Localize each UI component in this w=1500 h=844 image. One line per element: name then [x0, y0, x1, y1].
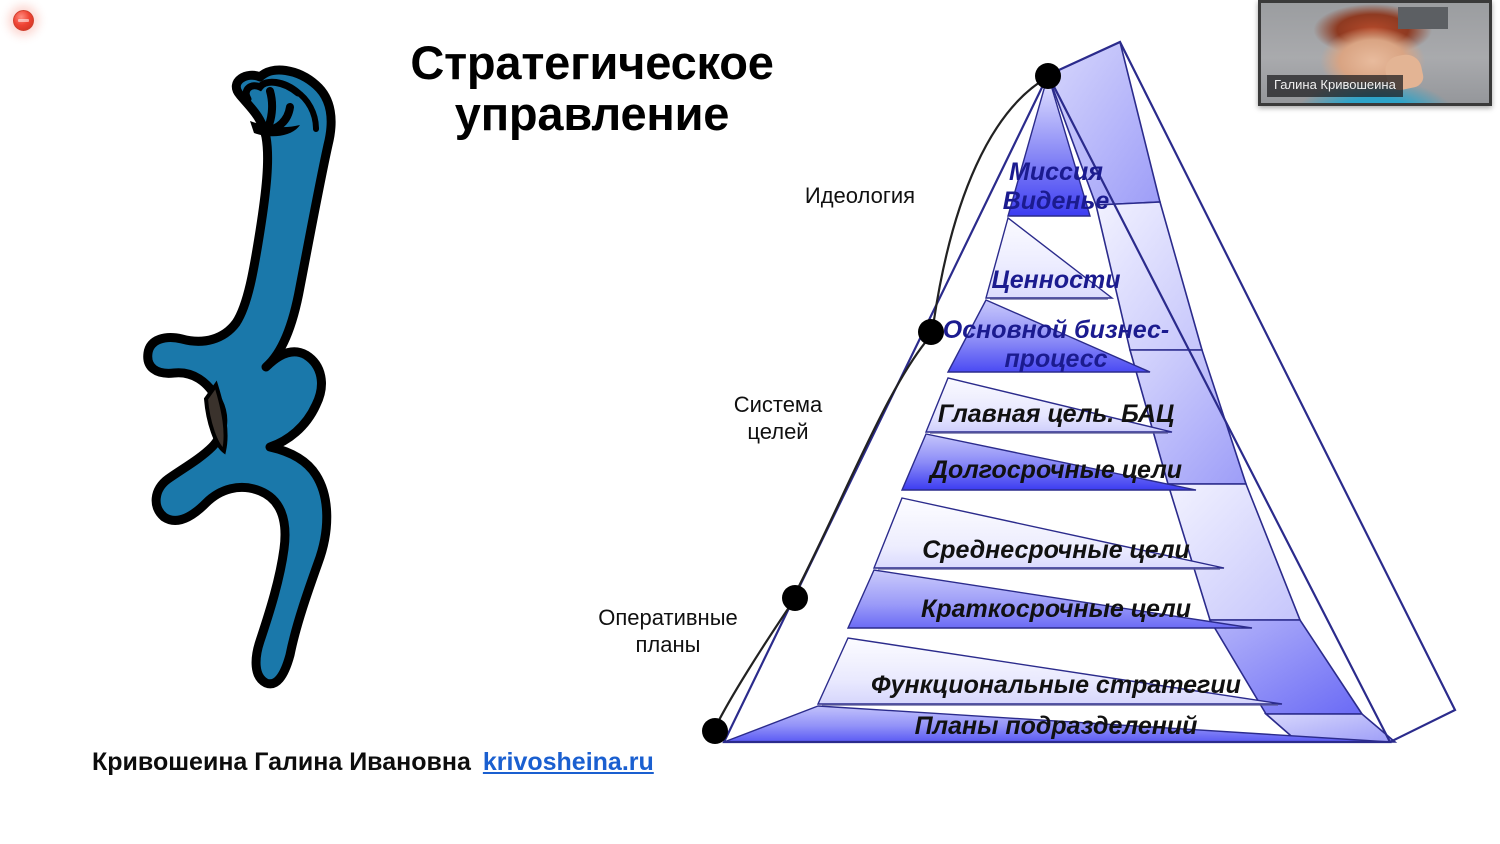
- pyramid-side-faces: [1048, 42, 1395, 742]
- pyramid-level-1-label-line1: Миссия: [1009, 158, 1103, 186]
- pyramid-level-3-label-line2: процесс: [1004, 345, 1107, 373]
- pyramid-level-8-label: Функциональные стратегии: [871, 671, 1241, 699]
- pyramid-level-2-label: Ценности: [991, 266, 1120, 294]
- pyramid-level-4-label: Главная цель. БАЦ: [938, 400, 1174, 428]
- pyramid-level-7-label: Краткосрочные цели: [921, 595, 1191, 623]
- figure-body: [148, 70, 331, 684]
- record-indicator-icon: [13, 10, 34, 31]
- connector-curve-plans: [716, 600, 794, 726]
- footer-website-link[interactable]: krivosheina.ru: [483, 748, 654, 776]
- footer-credit: Кривошеина Галина Ивановнаkrivosheina.ru: [92, 748, 654, 777]
- bracket-dot-apex: [1035, 63, 1061, 89]
- webcam-participant-name: Галина Кривошеина: [1267, 75, 1403, 97]
- strategy-pyramid: Миссия Виденье Ценности Основной бизнес-…: [690, 20, 1490, 780]
- pyramid-level-1-label-line2: Виденье: [1003, 187, 1110, 215]
- slide-canvas: Стратегическое управление Идеология Сист…: [0, 0, 1500, 844]
- pyramid-level-5-label: Долгосрочные цели: [928, 456, 1182, 484]
- pyramid-level-6-label: Среднесрочные цели: [922, 536, 1190, 564]
- bracket-dot-goals-bottom: [782, 585, 808, 611]
- footer-author: Кривошеина Галина Ивановна: [92, 748, 471, 776]
- webcam-tile[interactable]: Галина Кривошеина: [1258, 0, 1492, 106]
- pyramid-level-3-label-line1: Основной бизнес-: [943, 316, 1169, 344]
- pyramid-level-9-label: Планы подразделений: [915, 712, 1198, 740]
- climbing-figure-illustration: [120, 55, 380, 705]
- bracket-dot-ideology-bottom: [918, 319, 944, 345]
- bracket-dot-base: [702, 718, 728, 744]
